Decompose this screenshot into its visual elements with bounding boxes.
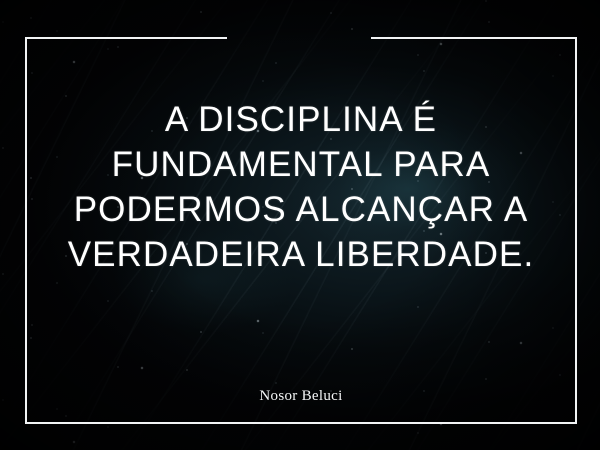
quote-text: A disciplina é fundamental para podermos… [27, 97, 575, 277]
quote-poster: A disciplina é fundamental para podermos… [0, 0, 600, 450]
quote-author: Nosor Beluci [27, 388, 575, 405]
quote-line-1: A disciplina é [27, 97, 575, 142]
poster-content: A disciplina é fundamental para podermos… [27, 39, 575, 422]
quote-line-3: podermos alcançar a [27, 187, 575, 232]
quote-line-2: fundamental para [27, 142, 575, 187]
quote-line-4: verdadeira liberdade. [27, 232, 575, 277]
